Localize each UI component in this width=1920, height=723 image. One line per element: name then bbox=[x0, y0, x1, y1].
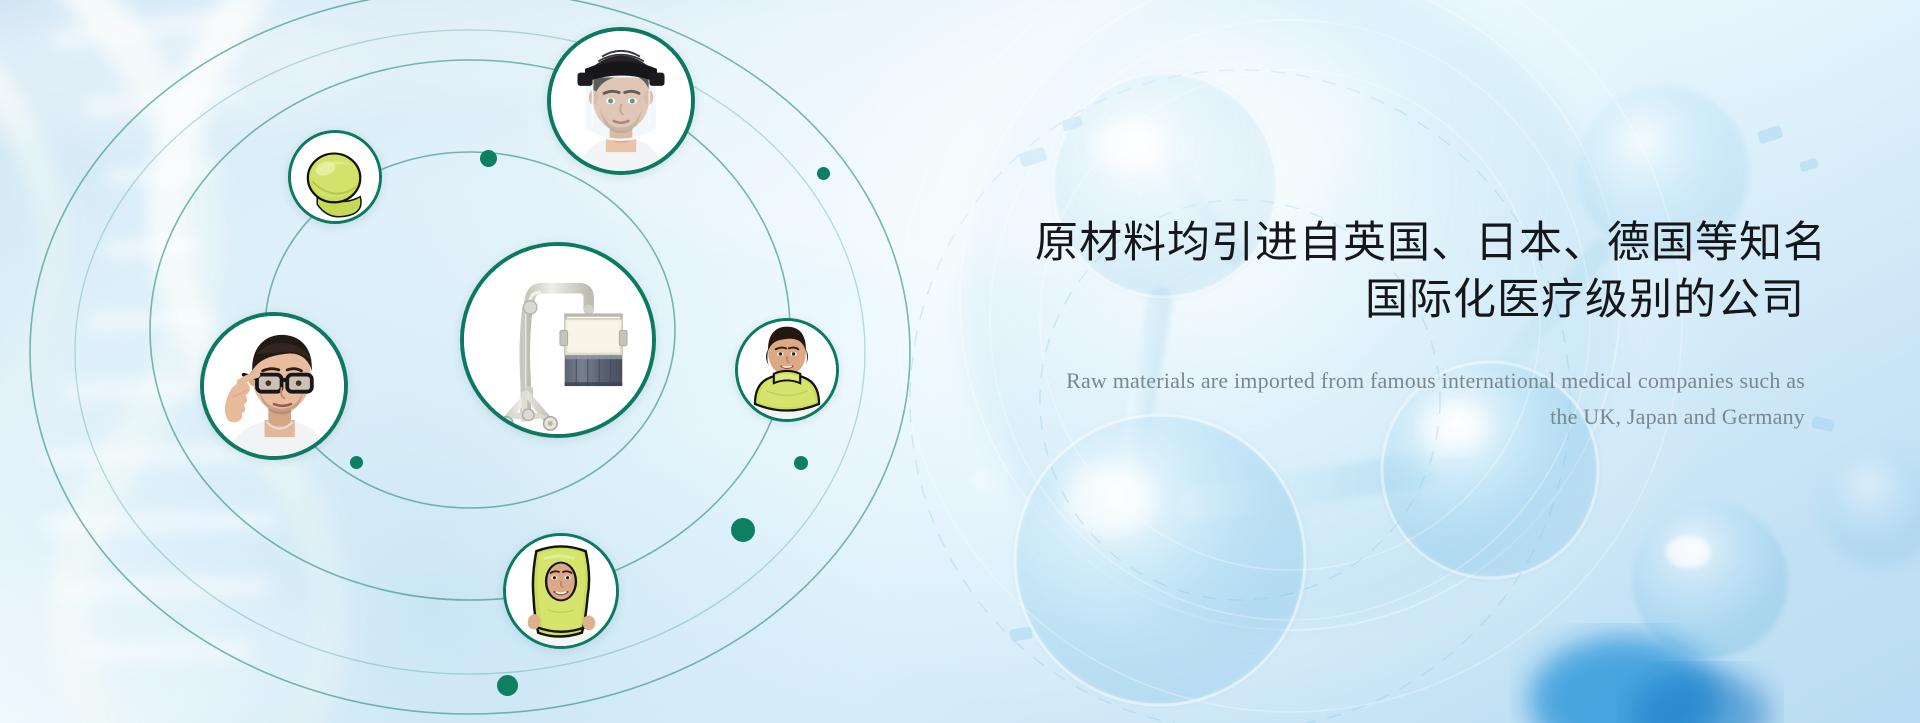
bubble-lead-cap[interactable] bbox=[288, 130, 382, 224]
subtitle-line-2: the UK, Japan and Germany bbox=[1035, 399, 1805, 435]
thyroid-collar-icon bbox=[738, 321, 836, 419]
accent-dot-1 bbox=[480, 150, 497, 167]
hero-banner: 原材料均引进自英国、日本、德国等知名 国际化医疗级别的公司 Raw materi… bbox=[0, 0, 1920, 723]
accent-dot-4 bbox=[794, 456, 808, 470]
lead-glasses-icon bbox=[204, 316, 344, 456]
lead-cap-icon bbox=[291, 133, 379, 221]
bubble-lead-hood[interactable] bbox=[503, 533, 619, 649]
accent-dot-6 bbox=[497, 675, 518, 696]
bubble-thyroid-collar[interactable] bbox=[735, 318, 839, 422]
bubble-lead-glasses[interactable] bbox=[200, 312, 348, 460]
face-shield-icon bbox=[551, 31, 691, 171]
subtitle-line-1: Raw materials are imported from famous i… bbox=[1035, 363, 1805, 399]
lead-hood-icon bbox=[506, 536, 616, 646]
bubble-face-shield[interactable] bbox=[547, 27, 695, 175]
headline-line-1: 原材料均引进自英国、日本、德国等知名 bbox=[1035, 215, 1805, 272]
accent-dot-5 bbox=[731, 518, 755, 542]
headline-line-2: 国际化医疗级别的公司 bbox=[1035, 272, 1805, 329]
bubble-mobile-barrier[interactable] bbox=[460, 242, 656, 438]
subtitle-block: Raw materials are imported from famous i… bbox=[1035, 363, 1805, 434]
copy-block: 原材料均引进自英国、日本、德国等知名 国际化医疗级别的公司 Raw materi… bbox=[1035, 215, 1805, 435]
product-orbit-diagram bbox=[0, 0, 960, 723]
accent-dot-2 bbox=[817, 167, 830, 180]
mobile-barrier-icon bbox=[464, 246, 652, 434]
accent-dot-3 bbox=[350, 456, 363, 469]
